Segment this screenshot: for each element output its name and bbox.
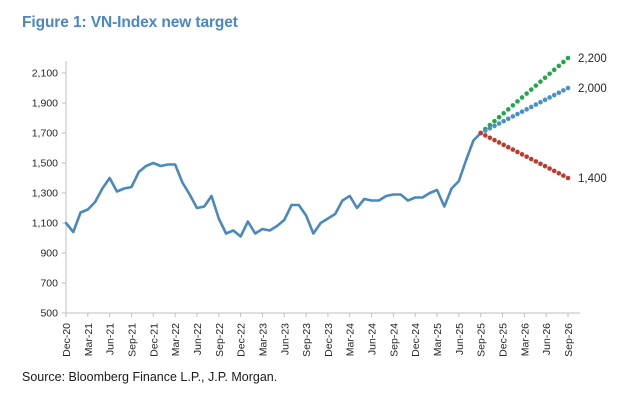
forecast-dot	[543, 98, 548, 103]
x-axis-tick-label: Jun-26	[541, 323, 553, 355]
forecast-dot	[566, 176, 571, 181]
figure-container: Figure 1: VN-Index new target 2,1001,900…	[0, 0, 640, 411]
forecast-dot	[561, 173, 566, 178]
y-axis-tick-label: 1,300	[32, 188, 58, 200]
y-axis-tick-label: 2,100	[32, 68, 58, 80]
forecast-dot	[543, 75, 548, 80]
forecast-dot	[561, 88, 566, 93]
x-axis-tick-label: Dec-25	[498, 323, 510, 357]
forecast-dot	[478, 131, 483, 136]
forecast-dot	[497, 121, 502, 126]
forecast-dot	[529, 105, 534, 110]
forecast-dot	[552, 68, 557, 73]
x-axis-tick-label: Sep-26	[563, 323, 575, 357]
x-axis-tick-label: Mar-22	[170, 323, 182, 356]
forecast-dot	[566, 56, 571, 61]
x-axis-tick-label: Sep-21	[126, 323, 138, 357]
forecast-dot	[520, 152, 525, 157]
forecast-dot	[561, 60, 566, 65]
forecast-dot	[538, 161, 543, 166]
y-axis-tick-label: 1,500	[32, 158, 58, 170]
x-axis-tick-label: Jun-25	[454, 323, 466, 355]
forecast-dot	[515, 112, 520, 117]
x-axis-tick-label: Sep-25	[476, 323, 488, 357]
forecast-dot	[534, 83, 539, 88]
forecast-dot	[543, 164, 548, 169]
forecast-dot	[524, 107, 529, 112]
series-line-history	[66, 133, 481, 237]
x-axis-tick-label: Jun-22	[192, 323, 204, 355]
forecast-dot	[538, 100, 543, 105]
forecast-dot	[511, 147, 516, 152]
forecast-dot	[506, 145, 511, 150]
forecast-dot	[488, 126, 493, 131]
forecast-dot	[538, 79, 543, 84]
forecast-dot	[483, 128, 488, 133]
forecast-dot	[557, 171, 562, 176]
forecast-dot	[506, 116, 511, 121]
x-axis-tick-label: Mar-21	[83, 323, 95, 356]
forecast-dot	[511, 114, 516, 119]
forecast-dot	[506, 107, 511, 112]
base-target-label: 2,000	[578, 83, 607, 95]
forecast-dot	[492, 119, 497, 124]
forecast-dot	[547, 95, 552, 100]
forecast-dot	[552, 93, 557, 98]
x-axis-tick-label: Sep-23	[301, 323, 313, 357]
forecast-dot	[547, 71, 552, 76]
source-note: Source: Bloomberg Finance L.P., J.P. Mor…	[22, 370, 277, 384]
forecast-dot	[520, 109, 525, 114]
forecast-dot	[497, 115, 502, 120]
forecast-dot	[534, 159, 539, 164]
chart-series-group	[66, 56, 570, 237]
x-axis-tick-label: Sep-24	[388, 323, 400, 357]
forecast-dot	[524, 91, 529, 96]
x-axis-tick-label: Dec-20	[61, 323, 73, 357]
x-axis-tick-label: Mar-25	[432, 323, 444, 356]
x-axis-tick-label: Sep-22	[214, 323, 226, 357]
x-axis-tick-label: Dec-24	[410, 323, 422, 357]
x-axis-tick-label: Jun-24	[367, 323, 379, 355]
x-axis-tick-label: Mar-24	[345, 323, 357, 356]
forecast-dot	[529, 87, 534, 92]
forecast-dot	[529, 157, 534, 162]
y-axis: 2,1001,9001,7001,5001,3001,100900700500	[32, 61, 66, 320]
forecast-dot	[492, 124, 497, 129]
forecast-dot	[557, 90, 562, 95]
forecast-dot	[515, 150, 520, 155]
forecast-dot	[557, 64, 562, 69]
chart-plot-area: 2,1001,9001,7001,5001,3001,100900700500 …	[0, 0, 640, 411]
forecast-dot	[501, 143, 506, 148]
y-axis-tick-label: 1,100	[32, 218, 58, 230]
x-axis-tick-label: Dec-22	[236, 323, 248, 357]
y-axis-tick-label: 900	[40, 248, 58, 260]
bear-target-label: 1,400	[578, 173, 607, 185]
forecast-dot	[547, 166, 552, 171]
bull-target-label: 2,200	[578, 53, 607, 65]
x-axis: Dec-20Mar-21Jun-21Sep-21Dec-21Mar-22Jun-…	[61, 313, 580, 357]
y-axis-tick-label: 700	[40, 278, 58, 290]
y-axis-tick-label: 1,700	[32, 128, 58, 140]
forecast-dot	[524, 154, 529, 159]
forecast-dot	[534, 102, 539, 107]
chart-svg: 2,1001,9001,7001,5001,3001,100900700500 …	[0, 0, 640, 411]
x-axis-tick-label: Jun-23	[279, 323, 291, 355]
forecast-dot	[492, 138, 497, 143]
x-axis-tick-label: Jun-21	[105, 323, 117, 355]
x-axis-tick-label: Dec-23	[323, 323, 335, 357]
x-axis-tick-label: Mar-23	[257, 323, 269, 356]
forecast-dot	[520, 95, 525, 100]
forecast-dot	[501, 119, 506, 124]
forecast-dot	[497, 140, 502, 145]
x-axis-tick-label: Mar-26	[519, 323, 531, 356]
target-annotations: 2,2002,0001,400	[578, 53, 607, 185]
y-axis-tick-label: 1,900	[32, 98, 58, 110]
y-axis-tick-label: 500	[40, 308, 58, 320]
forecast-dot	[566, 86, 571, 91]
forecast-dot	[552, 169, 557, 174]
x-axis-tick-label: Dec-21	[148, 323, 160, 357]
forecast-dot	[501, 111, 506, 116]
forecast-dot	[515, 99, 520, 104]
forecast-dot	[511, 103, 516, 108]
forecast-dot	[488, 135, 493, 140]
forecast-dot	[483, 133, 488, 138]
